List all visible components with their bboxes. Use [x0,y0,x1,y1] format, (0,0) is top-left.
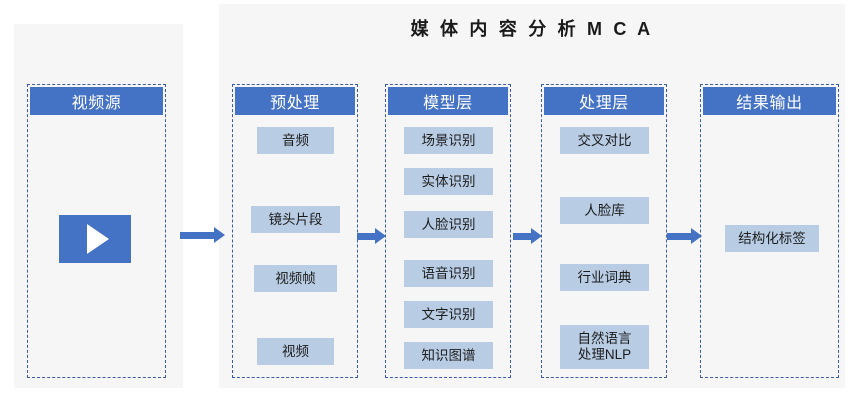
column-model-layer[interactable]: 模型层 场景识别 实体识别 人脸识别 语音识别 文字识别 知识图谱 [385,84,511,378]
chip-model-4[interactable]: 文字识别 [404,301,493,328]
chip-preprocessing-3[interactable]: 视频 [257,338,334,365]
chip-model-0[interactable]: 场景识别 [404,127,493,154]
column-header-model-layer: 模型层 [388,87,508,115]
column-processing-layer[interactable]: 处理层 交叉对比 人脸库 行业词典 自然语言 处理NLP [541,84,667,378]
arrow-processing-to-result [667,228,702,244]
chip-preprocessing-1[interactable]: 镜头片段 [251,206,340,233]
column-video-source[interactable]: 视频源 [27,84,166,378]
column-header-preprocessing: 预处理 [235,87,355,115]
column-result-output[interactable]: 结果输出 结构化标签 [700,84,839,378]
column-preprocessing[interactable]: 预处理 音频 镜头片段 视频帧 视频 [232,84,358,378]
play-triangle-icon [87,224,109,254]
arrow-preprocessing-to-model [357,228,387,244]
chip-preprocessing-2[interactable]: 视频帧 [254,265,337,292]
chip-processing-2[interactable]: 行业词典 [560,264,649,291]
chip-processing-3[interactable]: 自然语言 处理NLP [560,325,649,369]
arrow-shaft [180,232,214,239]
chip-processing-0[interactable]: 交叉对比 [560,127,649,154]
arrow-model-to-processing [513,228,543,244]
chip-model-5[interactable]: 知识图谱 [404,342,493,369]
chip-result-0[interactable]: 结构化标签 [725,225,819,252]
arrow-head-icon [214,227,225,243]
chip-model-3[interactable]: 语音识别 [404,260,493,287]
arrow-shaft [513,233,531,240]
arrow-shaft [667,233,691,240]
diagram-title: 媒 体 内 容 分 析 M C A [219,16,845,42]
chip-model-2[interactable]: 人脸识别 [404,211,493,238]
column-header-processing-layer: 处理层 [544,87,664,115]
play-icon[interactable] [59,215,131,263]
chip-preprocessing-0[interactable]: 音频 [257,127,334,154]
diagram-canvas: 媒 体 内 容 分 析 M C A 视频源 预处理 音频 镜头片段 视频帧 视频… [0,0,859,411]
column-header-video-source: 视频源 [30,87,163,115]
chip-processing-1[interactable]: 人脸库 [560,197,649,224]
arrow-shaft [357,233,375,240]
arrow-source-to-preprocessing [180,227,225,243]
column-header-result-output: 结果输出 [703,87,836,115]
chip-model-1[interactable]: 实体识别 [404,168,493,195]
